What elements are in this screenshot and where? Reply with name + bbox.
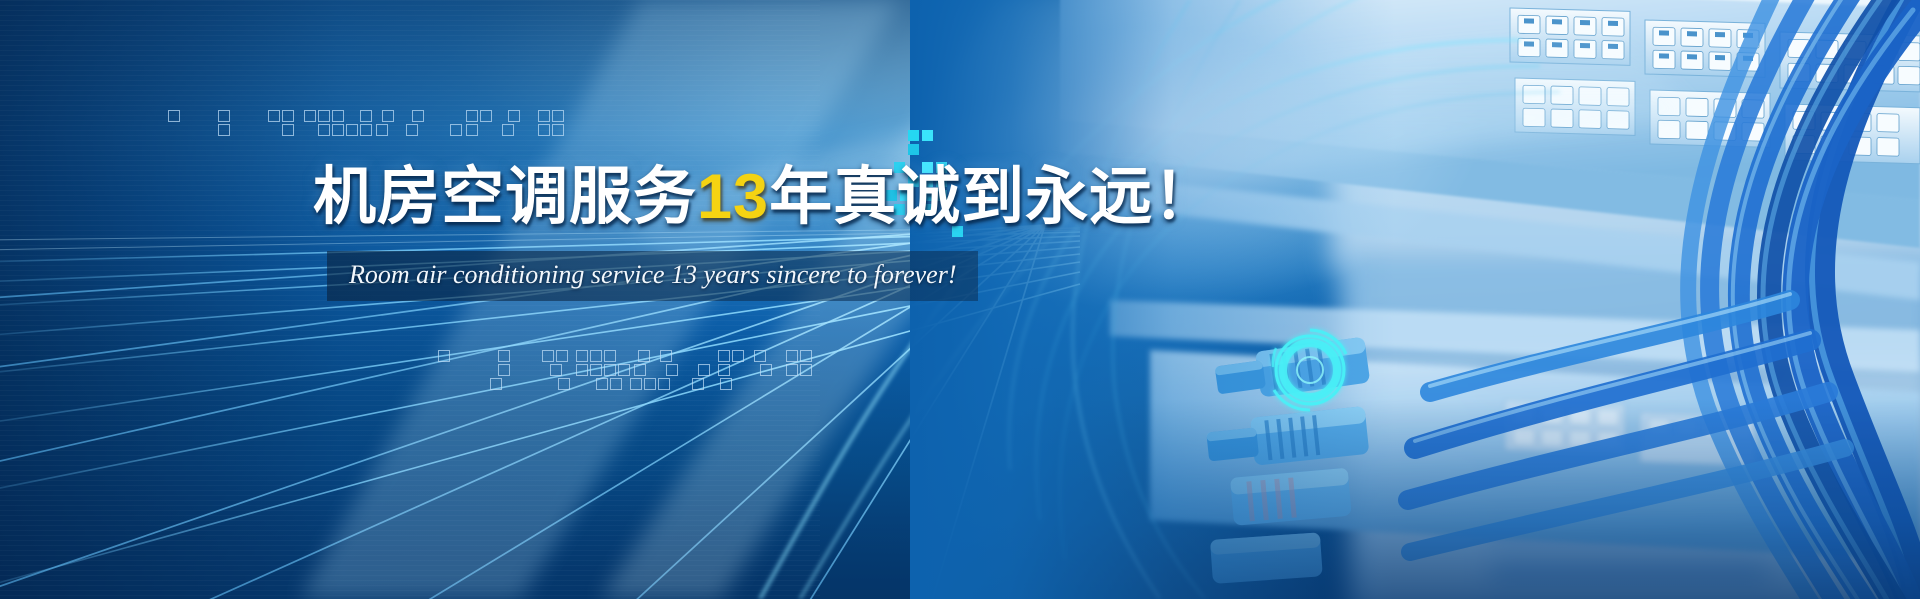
pixel-square-decor-top (160, 100, 580, 136)
hero-banner: 机房空调服务13年真诚到永远！ Room air conditioning se… (0, 0, 1920, 599)
headline-suffix: 年真诚到永远！ (769, 162, 1217, 232)
page-title: 机房空调服务13年真诚到永远！ (313, 166, 1217, 229)
subtitle-bar: Room air conditioning service 13 years s… (327, 251, 978, 301)
pixel-square-decor-bottom (430, 330, 910, 392)
headline-years-number: 13 (697, 162, 769, 232)
headline-prefix: 机房空调服务 (313, 162, 697, 232)
subtitle-text: Room air conditioning service 13 years s… (349, 260, 956, 290)
